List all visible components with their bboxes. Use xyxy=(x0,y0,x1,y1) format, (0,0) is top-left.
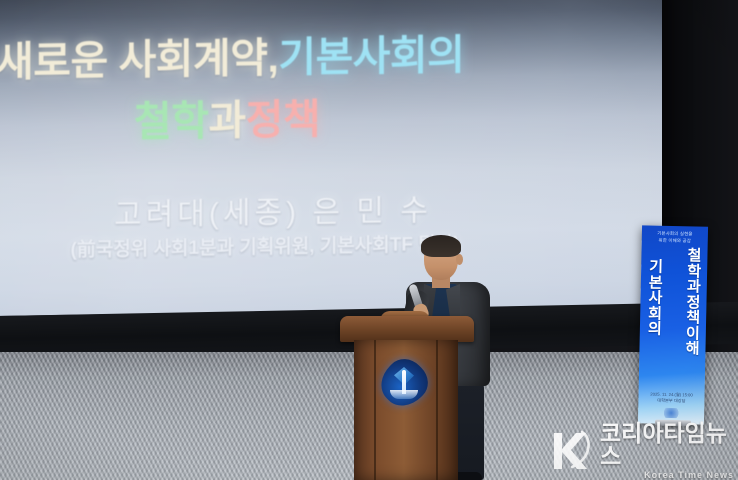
banner-vertical-text: 기 본 사 회 의 철 학 과 정 책 이 해 xyxy=(647,247,702,388)
banner-char: 이 xyxy=(686,326,700,342)
banner-char: 회 xyxy=(648,306,662,322)
slide-title-line-1: 새로운 사회계약, 기본사회의 xyxy=(0,35,464,83)
banner-char: 과 xyxy=(687,279,701,295)
rollup-banner: 기본사회의 실현을 위한 이해와 공감 기 본 사 회 의 철 학 과 정 책 … xyxy=(638,225,708,424)
podium-top xyxy=(340,316,474,342)
banner-char: 의 xyxy=(648,321,662,337)
title-segment-cream: 새로운 사회계약, xyxy=(0,38,278,83)
photo-scene: 새로운 사회계약, 기본사회의 철학과 정책 고려대(세종) 은 민 수 (前국… xyxy=(0,0,738,480)
banner-footer-line2: 대학본부 대강당 xyxy=(642,397,700,404)
slide-title-line-2: 철학과 정책 xyxy=(134,99,320,143)
podium-seam-left xyxy=(374,340,376,480)
banner-column-left: 기 본 사 회 의 xyxy=(647,259,663,387)
banner-top-caption: 기본사회의 실현을 위한 이해와 공감 xyxy=(647,229,703,246)
banner-char: 사 xyxy=(648,290,662,306)
title-segment-conjunction: 과 xyxy=(208,100,245,142)
banner-column-right: 철 학 과 정 책 이 해 xyxy=(685,248,702,388)
presenter-ear xyxy=(456,254,463,265)
slide-content: 새로운 사회계약, 기본사회의 철학과 정책 고려대(세종) 은 민 수 (前국… xyxy=(0,0,660,320)
slide-speaker-name: 고려대(세종) 은 민 수 xyxy=(38,184,508,235)
title-segment-cyan: 기본사회의 xyxy=(278,35,464,79)
banner-char: 정 xyxy=(686,295,700,311)
banner-logo-icon xyxy=(662,408,680,418)
title-segment-pink: 정책 xyxy=(246,99,320,141)
banner-char: 책 xyxy=(686,310,700,326)
banner-char: 본 xyxy=(649,275,663,291)
crest-wave xyxy=(390,390,418,399)
banner-char: 철 xyxy=(687,248,701,264)
watermark: 코리아타임뉴스 Korea Time News xyxy=(548,428,734,474)
title-segment-green: 철학 xyxy=(134,101,208,143)
podium-seam-right xyxy=(436,340,438,480)
korea-time-news-logo-icon xyxy=(548,429,594,473)
banner-char: 해 xyxy=(686,341,700,357)
banner-char: 학 xyxy=(687,264,701,280)
banner-char: 기 xyxy=(649,259,663,275)
presenter-hair xyxy=(421,235,461,257)
podium xyxy=(352,316,462,480)
banner-top-caption-line2: 위한 이해와 공감 xyxy=(647,236,703,244)
watermark-text: 코리아타임뉴스 Korea Time News xyxy=(600,422,734,480)
watermark-korean: 코리아타임뉴스 xyxy=(600,422,734,468)
podium-crest-inner xyxy=(382,360,426,406)
watermark-english: Korea Time News xyxy=(600,471,734,480)
